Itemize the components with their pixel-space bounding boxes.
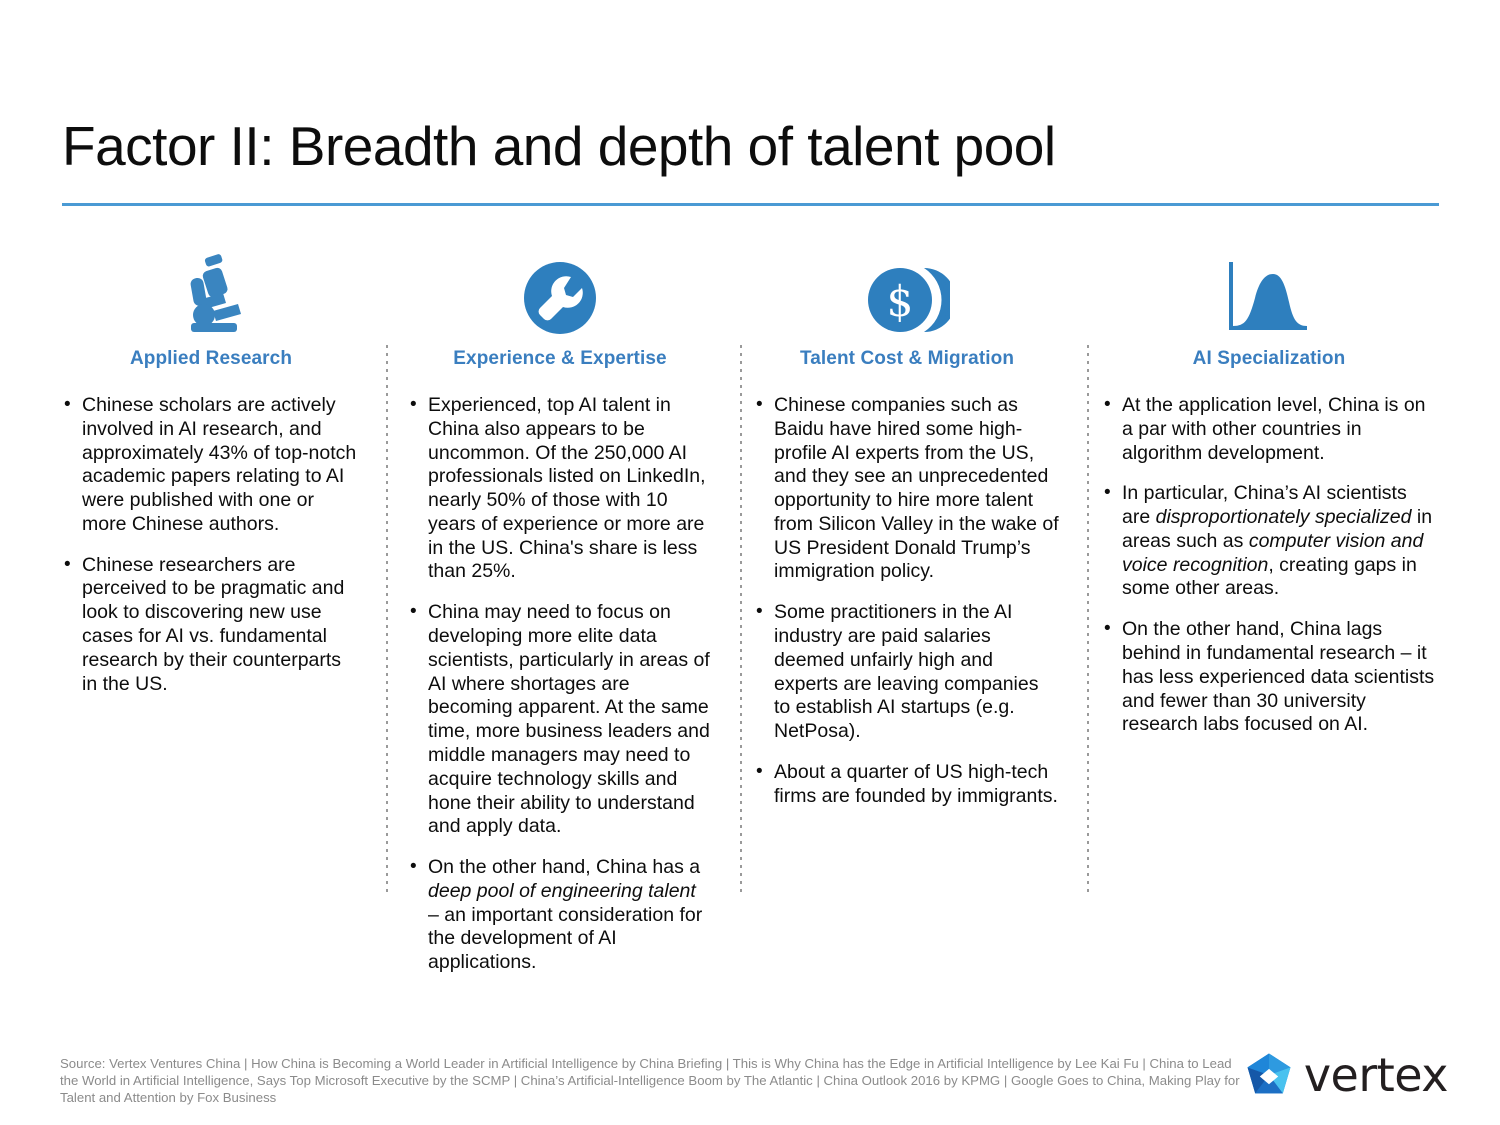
column-ai-specialization: AI Specialization At the application lev… — [1078, 248, 1436, 754]
bullet-item: Chinese scholars are actively involved i… — [62, 394, 360, 537]
vertex-gem-icon — [1246, 1052, 1292, 1098]
bullet-item: In particular, China’s AI scientists are… — [1102, 482, 1436, 601]
column-experience-expertise: Experience & Expertise Experienced, top … — [382, 248, 730, 992]
bullet-list: At the application level, China is on a … — [1102, 394, 1436, 737]
column-applied-research: Applied Research Chinese scholars are ac… — [62, 248, 382, 713]
bullet-item: On the other hand, China has a deep pool… — [408, 856, 712, 975]
column-heading: AI Specialization — [1102, 348, 1436, 370]
bullet-list: Chinese companies such as Baidu have hir… — [754, 394, 1060, 809]
bullet-item: Chinese companies such as Baidu have hir… — [754, 394, 1060, 584]
bell-curve-chart-icon — [1102, 248, 1436, 336]
bullet-item: On the other hand, China lags behind in … — [1102, 618, 1436, 737]
bullet-item: About a quarter of US high-tech firms ar… — [754, 761, 1060, 809]
column-talent-cost-migration: $ Talent Cost & Migration Chinese compan… — [730, 248, 1078, 826]
microscope-icon — [62, 248, 360, 336]
wrench-circle-icon — [408, 248, 712, 336]
bullet-list: Experienced, top AI talent in China also… — [408, 394, 712, 975]
page-title: Factor II: Breadth and depth of talent p… — [62, 118, 1056, 176]
title-divider-rule — [62, 203, 1439, 206]
bullet-item: Chinese researchers are perceived to be … — [62, 554, 360, 697]
bullet-item: Experienced, top AI talent in China also… — [408, 394, 712, 584]
source-citation: Source: Vertex Ventures China | How Chin… — [60, 1056, 1250, 1107]
bullet-list: Chinese scholars are actively involved i… — [62, 394, 360, 696]
svg-text:$: $ — [887, 277, 914, 326]
vertex-logo: vertex — [1246, 1052, 1448, 1098]
column-heading: Talent Cost & Migration — [754, 348, 1060, 370]
bullet-item: China may need to focus on developing mo… — [408, 601, 712, 839]
column-heading: Applied Research — [62, 348, 360, 370]
bullet-item: At the application level, China is on a … — [1102, 394, 1436, 465]
columns-container: Applied Research Chinese scholars are ac… — [62, 248, 1442, 992]
column-heading: Experience & Expertise — [408, 348, 712, 370]
dollar-coins-icon: $ — [754, 248, 1060, 336]
logo-wordmark: vertex — [1304, 1052, 1448, 1098]
bullet-item: Some practitioners in the AI industry ar… — [754, 601, 1060, 744]
